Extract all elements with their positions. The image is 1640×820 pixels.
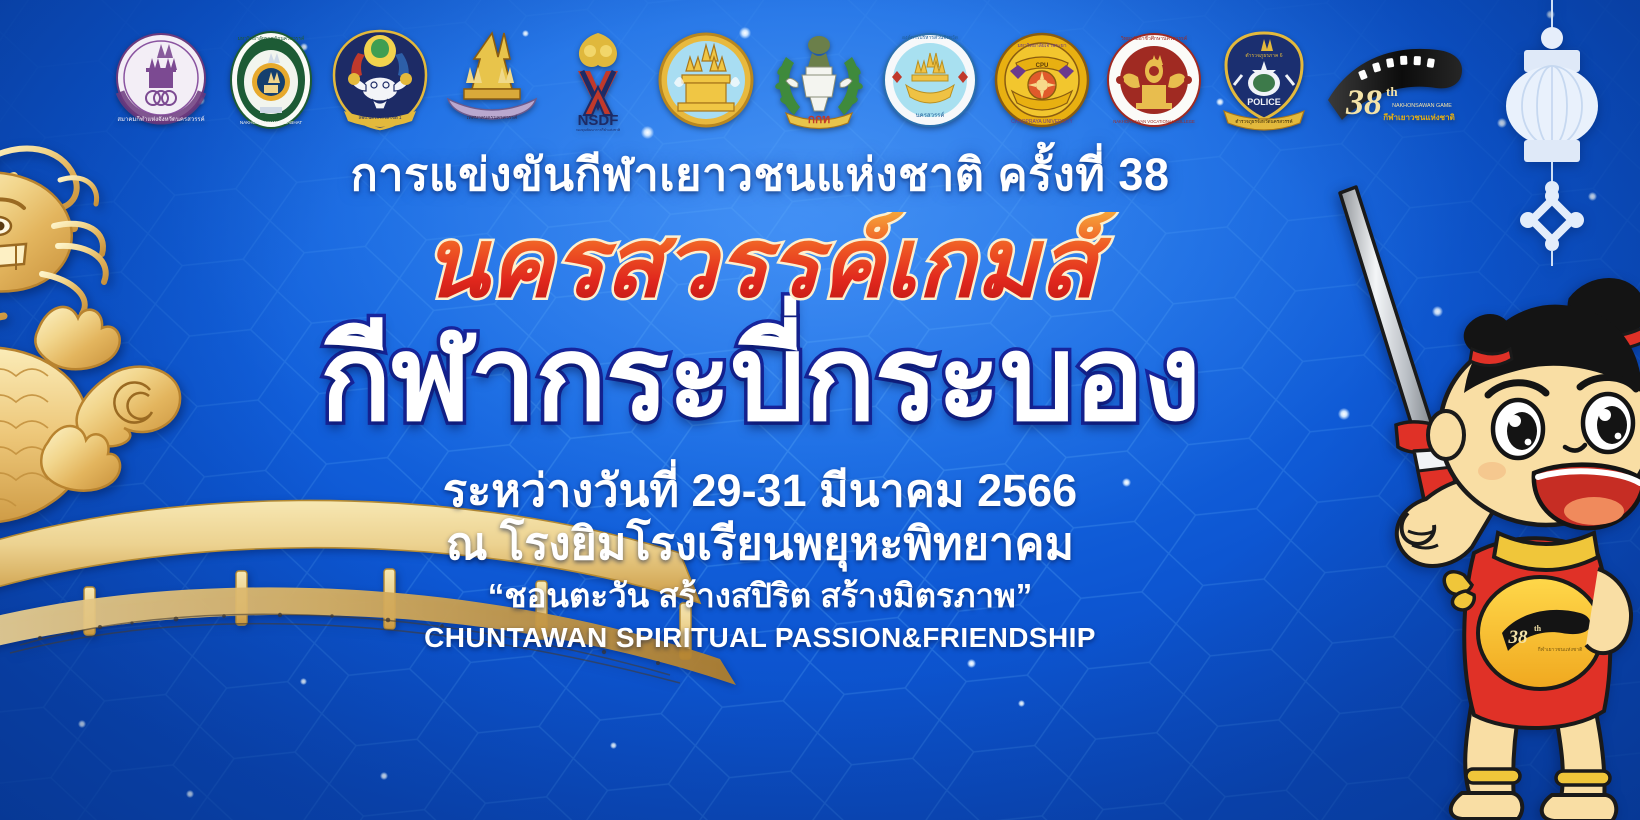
sport-title: กีฬากระบี่กระบอง	[0, 320, 1520, 438]
event-venue: ณ โรงยิมโรงเรียนพยุหะพิทยาคม	[0, 517, 1520, 570]
slogan-english: CHUNTAWAN SPIRITUAL PASSION&FRIENDSHIP	[0, 621, 1520, 655]
svg-text:NAKHONSAWAN VOCATIONAL COLLEGE: NAKHONSAWAN VOCATIONAL COLLEGE	[1113, 119, 1195, 124]
svg-text:กกท: กกท	[808, 112, 831, 126]
svg-text:กองทุนพัฒนาการกีฬาแห่งชาติ: กองทุนพัฒนาการกีฬาแห่งชาติ	[576, 127, 620, 133]
nakhon-sawan-rajabhat-university-emblem: มหาวิทยาลัยราชภัฏนครสวรรค์ NAKHON SAWAN …	[222, 27, 320, 133]
royal-thai-police-emblem: POLICE ตำรวจภูธรจังหวัดนครสวรรค์ ตำรวจภู…	[1214, 27, 1314, 133]
svg-text:วิทยาลัยอาชีวศึกษานครสวรรค์: วิทยาลัยอาชีวศึกษานครสวรรค์	[1121, 35, 1187, 42]
svg-text:NAKHON SAWAN RAJABHAT: NAKHON SAWAN RAJABHAT	[240, 120, 303, 125]
svg-text:ตำรวจภูธรจังหวัดนครสวรรค์: ตำรวจภูธรจังหวัดนครสวรรค์	[1235, 118, 1292, 125]
games-38th-mark: 38 th NAKHONSAWAN GAME กีฬาเยาวชนแห่งชาต…	[1322, 28, 1464, 132]
sparkle-dot	[1018, 700, 1025, 707]
royal-pavilion-gold-emblem	[652, 27, 760, 133]
event-poster: สมาคมกีฬาแห่งจังหวัดนครสวรรค์ ม	[0, 0, 1640, 820]
svg-text:CPU: CPU	[1036, 63, 1049, 69]
svg-text:POLICE: POLICE	[1247, 97, 1281, 107]
svg-text:เทศบาลนครนครสวรรค์: เทศบาลนครนครสวรรค์	[467, 114, 518, 121]
games-wordmark: นครสวรรค์เกมส์	[0, 212, 1520, 322]
nakhon-sawan-municipality-emblem: เทศบาลนครนครสวรรค์	[440, 27, 544, 133]
sparkle-dot	[186, 790, 194, 798]
games-subtitle-th: กีฬาเยาวชนแห่งชาติ	[1383, 112, 1455, 122]
ministry-of-education-emblem: สพป.นครสวรรค์ เขต 1	[328, 27, 432, 133]
svg-text:มหาวิทยาลัยเจ้าพระยา: มหาวิทยาลัยเจ้าพระยา	[1017, 42, 1066, 49]
event-headline: การแข่งขันกีฬาเยาวชนแห่งชาติ ครั้งที่ 38	[0, 150, 1520, 200]
poster-text-block: การแข่งขันกีฬาเยาวชนแห่งชาติ ครั้งที่ 38…	[0, 150, 1640, 655]
slogan-thai: “ชอนตะวัน สร้างสปิริต สร้างมิตรภาพ”	[0, 576, 1520, 616]
chulabhorn-university-emblem: CPU มหาวิทยาลัยเจ้าพระยา CHAOPRAYA UNIVE…	[990, 27, 1094, 133]
svg-text:มหาวิทยาลัยราชภัฏนครสวรรค์: มหาวิทยาลัยราชภัฏนครสวรรค์	[238, 35, 305, 42]
nsdf-emblem: NSDF กองทุนพัฒนาการกีฬาแห่งชาติ	[552, 27, 644, 133]
svg-text:นครสวรรค์: นครสวรรค์	[916, 111, 945, 119]
svg-text:CHAOPRAYA UNIVERSITY: CHAOPRAYA UNIVERSITY	[1011, 119, 1073, 125]
national-youth-sports-committee-emblem: สมาคมกีฬาแห่งจังหวัดนครสวรรค์	[108, 28, 214, 132]
games-number: 38	[1345, 82, 1382, 122]
nakhonsawan-vocational-college-emblem: วิทยาลัยอาชีวศึกษานครสวรรค์ NAKHONSAWAN …	[1102, 27, 1206, 133]
svg-text:NSDF: NSDF	[578, 112, 619, 129]
svg-text:ตำรวจภูธรภาค 6: ตำรวจภูธรภาค 6	[1245, 53, 1282, 59]
svg-text:สมาคมกีฬาแห่งจังหวัดนครสวรรค์: สมาคมกีฬาแห่งจังหวัดนครสวรรค์	[117, 115, 204, 123]
kkt-laurel-emblem: กกท	[768, 27, 870, 133]
event-date: ระหว่างวันที่ 29-31 มีนาคม 2566	[0, 464, 1520, 517]
svg-text:สพป.นครสวรรค์ เขต 1: สพป.นครสวรรค์ เขต 1	[359, 115, 402, 120]
provincial-administrative-organization-emblem: องค์การบริหารส่วนจังหวัด นครสวรรค์	[878, 27, 982, 133]
svg-text:องค์การบริหารส่วนจังหวัด: องค์การบริหารส่วนจังหวัด	[902, 34, 958, 41]
sponsor-emblem-row: สมาคมกีฬาแห่งจังหวัดนครสวรรค์ ม	[108, 26, 1448, 134]
games-ordinal: th	[1386, 84, 1398, 99]
sparkle-dot	[967, 659, 976, 668]
games-subtitle-en: NAKHONSAWAN GAME	[1392, 103, 1452, 109]
games-wordmark-text: นครสวรรค์เกมส์	[423, 212, 1118, 317]
